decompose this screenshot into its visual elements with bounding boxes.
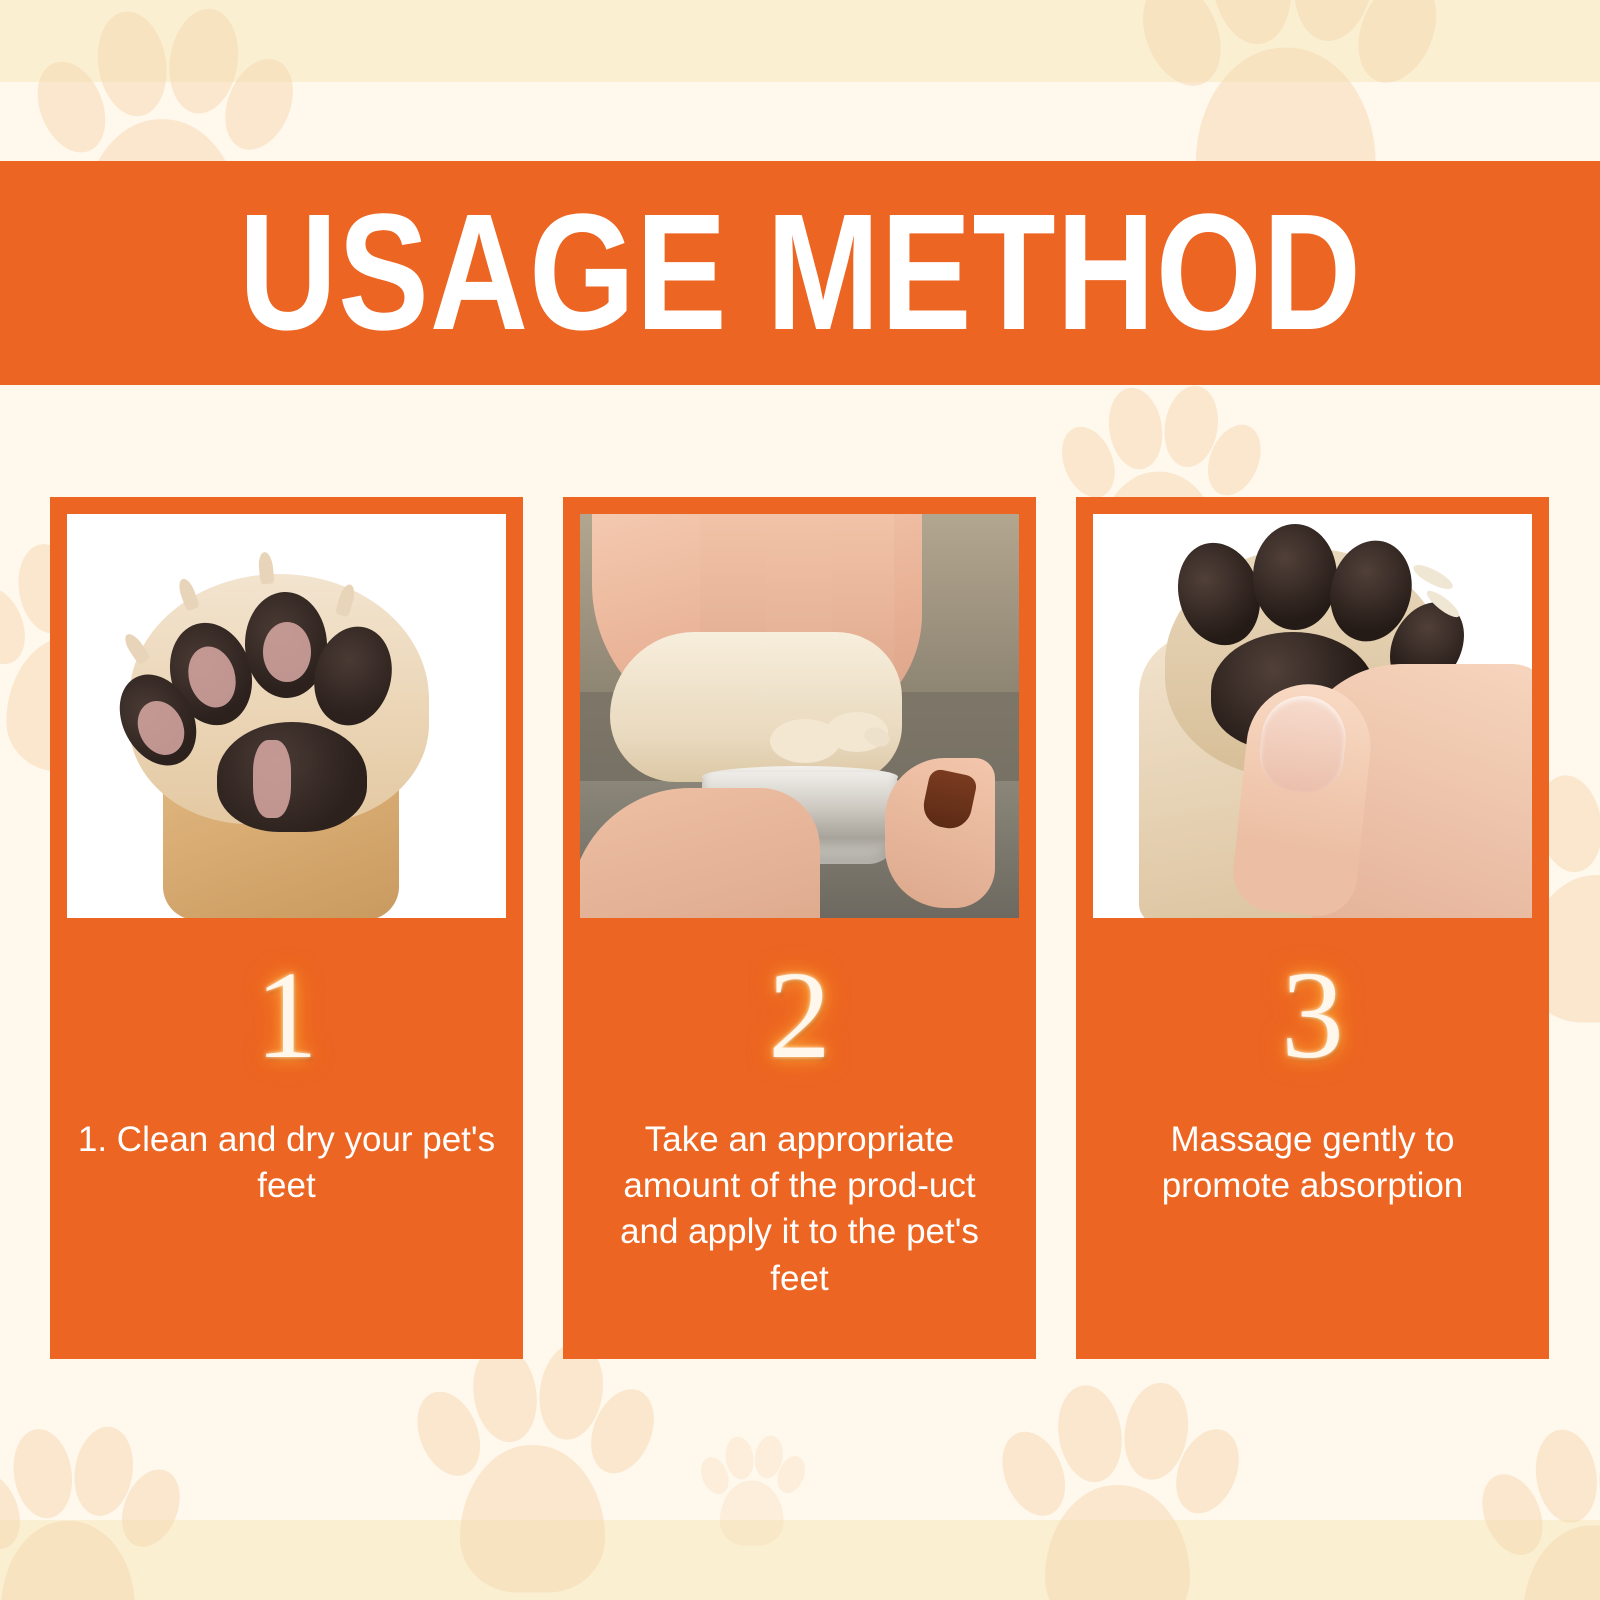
step-1-body: 1 1. Clean and dry your pet's feet	[67, 918, 506, 1359]
step-caption-1: 1. Clean and dry your pet's feet	[77, 1117, 496, 1209]
step-card-1: 1 1. Clean and dry your pet's feet	[50, 497, 523, 1359]
step-1-photo	[67, 514, 506, 918]
step-3-photo	[1093, 514, 1532, 918]
title-banner: USAGE METHOD	[0, 161, 1600, 385]
steps-container: 1 1. Clean and dry your pet's feet	[50, 497, 1550, 1359]
step-2-body: 2 Take an appropriate amount of the prod…	[580, 918, 1019, 1359]
step-number-1: 1	[255, 954, 318, 1079]
massaging-paw-illustration	[1093, 514, 1532, 918]
step-caption-3: Massage gently to promote absorption	[1103, 1117, 1522, 1209]
step-card-3: 3 Massage gently to promote absorption	[1076, 497, 1549, 1359]
step-card-2: 2 Take an appropriate amount of the prod…	[563, 497, 1036, 1359]
dog-paw-underside-illustration	[67, 514, 506, 918]
step-number-2: 2	[768, 954, 831, 1079]
page-title: USAGE METHOD	[238, 190, 1361, 356]
step-number-3: 3	[1281, 954, 1344, 1079]
step-3-body: 3 Massage gently to promote absorption	[1093, 918, 1532, 1359]
step-caption-2: Take an appropriate amount of the prod-u…	[590, 1117, 1009, 1302]
applying-balm-illustration	[580, 514, 1019, 918]
step-2-photo	[580, 514, 1019, 918]
